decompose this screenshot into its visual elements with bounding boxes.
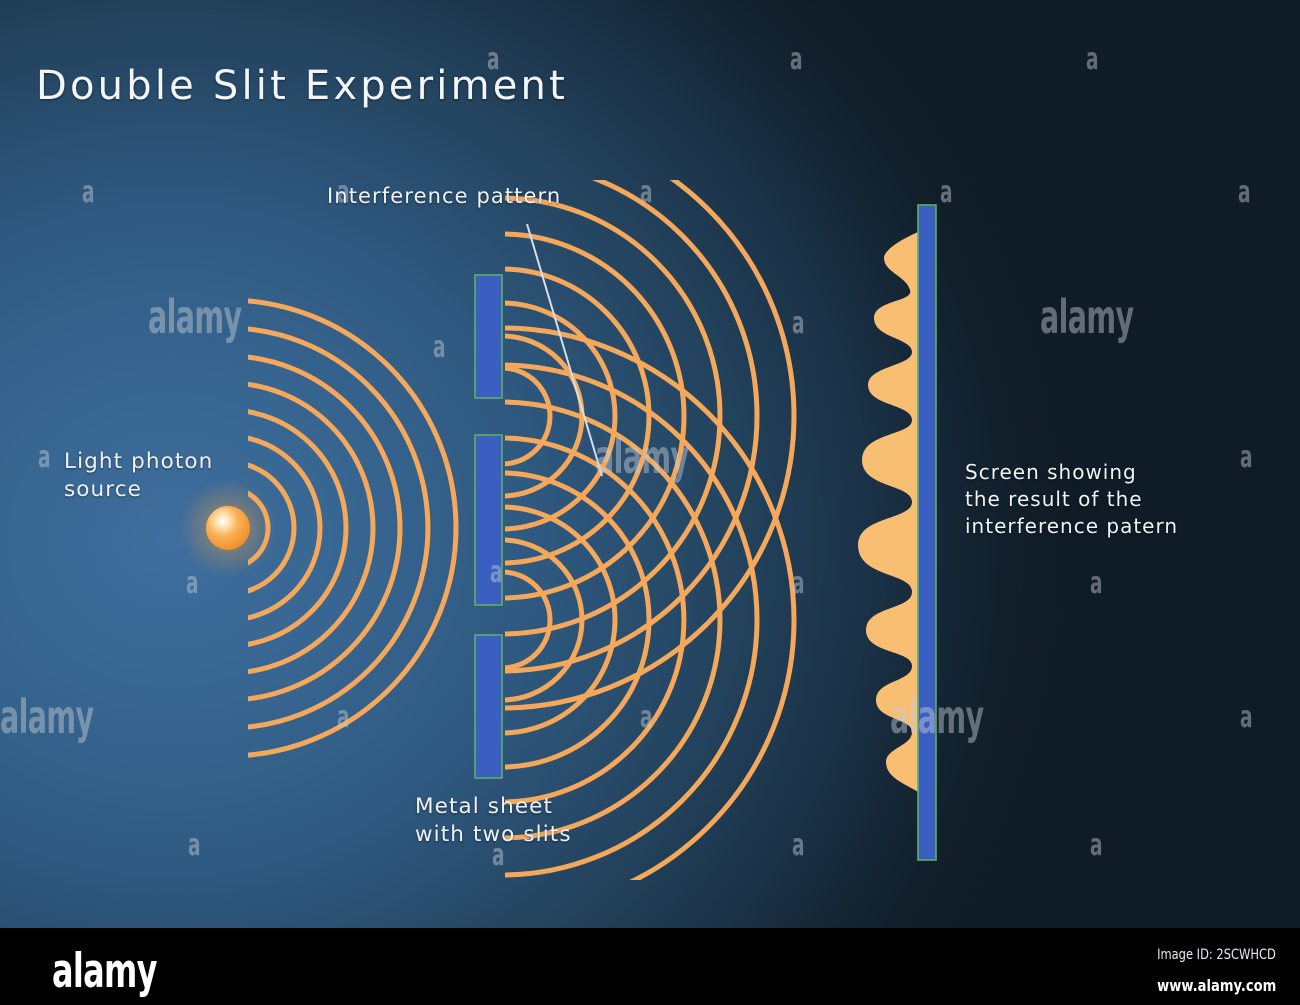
alamy-footer-bar: alamy Image ID: 2SCWHCD www.alamy.com: [0, 928, 1300, 1005]
page-title: Double Slit Experiment: [36, 60, 568, 112]
screenshot-root: a a a a a a a a alamy alamy a a a a alam…: [0, 0, 1300, 1005]
label-source-line2: source: [64, 477, 142, 502]
alamy-logo: alamy: [52, 944, 157, 999]
alamy-website-text: www.alamy.com: [1157, 976, 1276, 995]
metal-sheet: [475, 275, 502, 778]
illustration-canvas: a a a a a a a a alamy alamy a a a a alam…: [0, 0, 1300, 928]
label-source-line1: Light photon: [64, 449, 213, 474]
label-light-photon-source: Light photonsource: [64, 448, 213, 504]
label-screen-line3: interference patern: [965, 514, 1178, 538]
image-id-text: Image ID: 2SCWHCD: [1157, 947, 1276, 963]
label-metal-line2: with two slits: [415, 822, 572, 847]
detector-screen: [918, 205, 936, 860]
label-screen-line1: Screen showing: [965, 460, 1137, 484]
label-metal-sheet: Metal sheetwith two slits: [415, 793, 572, 849]
label-metal-line1: Metal sheet: [415, 794, 553, 819]
intensity-pattern: [858, 232, 918, 806]
label-interference-pattern: Interference pattern: [327, 183, 561, 210]
label-screen-result: Screen showingthe result of theinterfere…: [965, 459, 1178, 539]
barrier-plate-top: [475, 275, 502, 398]
label-screen-line2: the result of the: [965, 487, 1143, 511]
barrier-plate-bottom: [475, 635, 502, 778]
barrier-plate-middle: [475, 435, 502, 605]
